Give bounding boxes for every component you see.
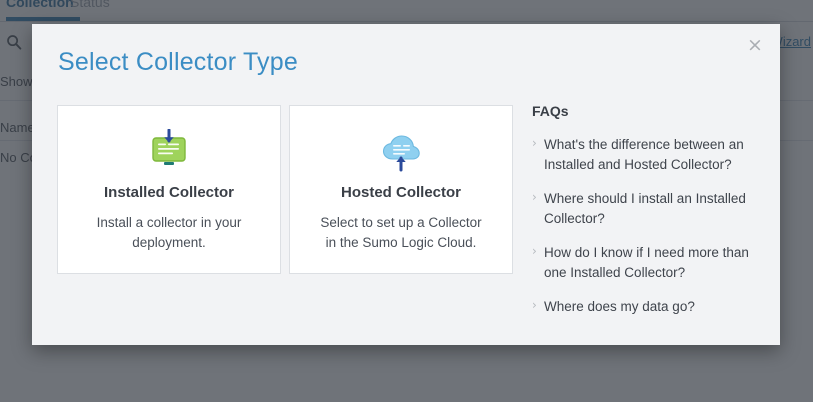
installed-collector-description: Install a collector in your deployment. (58, 213, 280, 252)
faq-item-label: Where does my data go? (544, 297, 695, 317)
hosted-collector-cloud-icon (378, 128, 424, 174)
faq-item-label: What's the difference between an Install… (544, 135, 762, 174)
close-icon[interactable]: × (742, 32, 768, 58)
chevron-right-icon: › (532, 243, 544, 260)
chevron-right-icon: › (532, 189, 544, 206)
chevron-right-icon: › (532, 135, 544, 152)
hosted-collector-title: Hosted Collector (341, 184, 461, 201)
faq-item-label: How do I know if I need more than one In… (544, 243, 762, 282)
dialog-title: Select Collector Type (58, 48, 298, 77)
hosted-collector-card[interactable]: Hosted Collector Select to set up a Coll… (289, 105, 513, 274)
select-collector-type-dialog: × Select Collector Type Installed Collec… (32, 24, 780, 345)
chevron-right-icon: › (532, 297, 544, 314)
installed-collector-title: Installed Collector (104, 184, 234, 201)
installed-collector-monitor-icon (146, 128, 192, 174)
faq-item-how-many[interactable]: › How do I know if I need more than one … (532, 243, 762, 282)
hosted-collector-description: Select to set up a Collector in the Sumo… (290, 213, 512, 252)
collector-type-cards: Installed Collector Install a collector … (57, 105, 513, 274)
faq-item-difference[interactable]: › What's the difference between an Insta… (532, 135, 762, 174)
faq-panel: FAQs › What's the difference between an … (532, 103, 762, 332)
faq-item-data-destination[interactable]: › Where does my data go? (532, 297, 762, 317)
faq-heading: FAQs (532, 103, 762, 119)
faq-item-where-install[interactable]: › Where should I install an Installed Co… (532, 189, 762, 228)
installed-collector-card[interactable]: Installed Collector Install a collector … (57, 105, 281, 274)
faq-item-label: Where should I install an Installed Coll… (544, 189, 762, 228)
